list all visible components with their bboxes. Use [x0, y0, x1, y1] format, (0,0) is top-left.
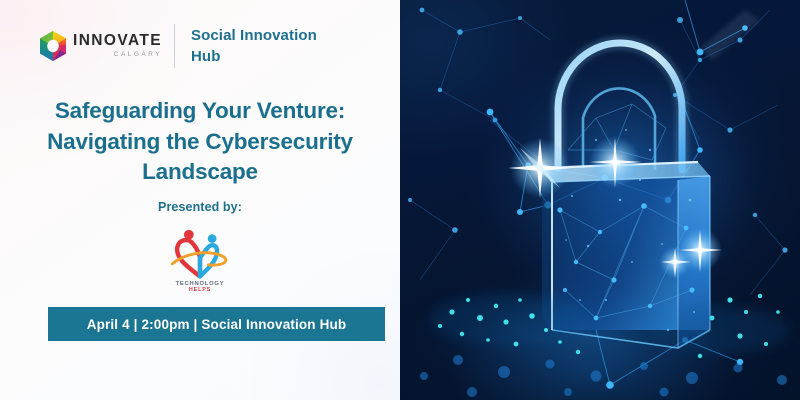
innovate-calgary-logo: INNOVATE CALGARY [38, 22, 162, 70]
presenter-wordmark-line1: TECHNOLOGY [176, 281, 225, 287]
presented-by-label: Presented by: [0, 200, 400, 214]
social-innovation-hub-title: Social Innovation Hub [191, 25, 317, 68]
innovate-wordmark: INNOVATE CALGARY [73, 33, 162, 58]
presenter-logo-wrap: TECHNOLOGY HELPS [0, 224, 400, 292]
event-promo-poster: INNOVATE CALGARY Social Innovation Hub S… [0, 0, 800, 400]
left-content-panel: INNOVATE CALGARY Social Innovation Hub S… [0, 0, 400, 400]
event-details-text: April 4 | 2:00pm | Social Innovation Hub [87, 317, 347, 332]
cybersecurity-padlock-artwork [400, 0, 800, 400]
innovate-brand-name: INNOVATE [73, 33, 162, 49]
flare-body-left [659, 246, 691, 278]
event-headline: Safeguarding Your Venture: Navigating th… [0, 96, 400, 188]
technology-helps-logo-icon: TECHNOLOGY HELPS [163, 224, 237, 292]
padlock-illustration-svg [400, 0, 800, 400]
innovate-hexagon-icon [38, 30, 68, 62]
presenter-wordmark-line2: HELPS [189, 287, 211, 292]
event-details-banner: April 4 | 2:00pm | Social Innovation Hub [48, 307, 385, 341]
header-lockup: INNOVATE CALGARY Social Innovation Hub [38, 22, 317, 70]
innovate-brand-subtitle: CALGARY [73, 52, 162, 59]
header-divider [174, 24, 175, 68]
